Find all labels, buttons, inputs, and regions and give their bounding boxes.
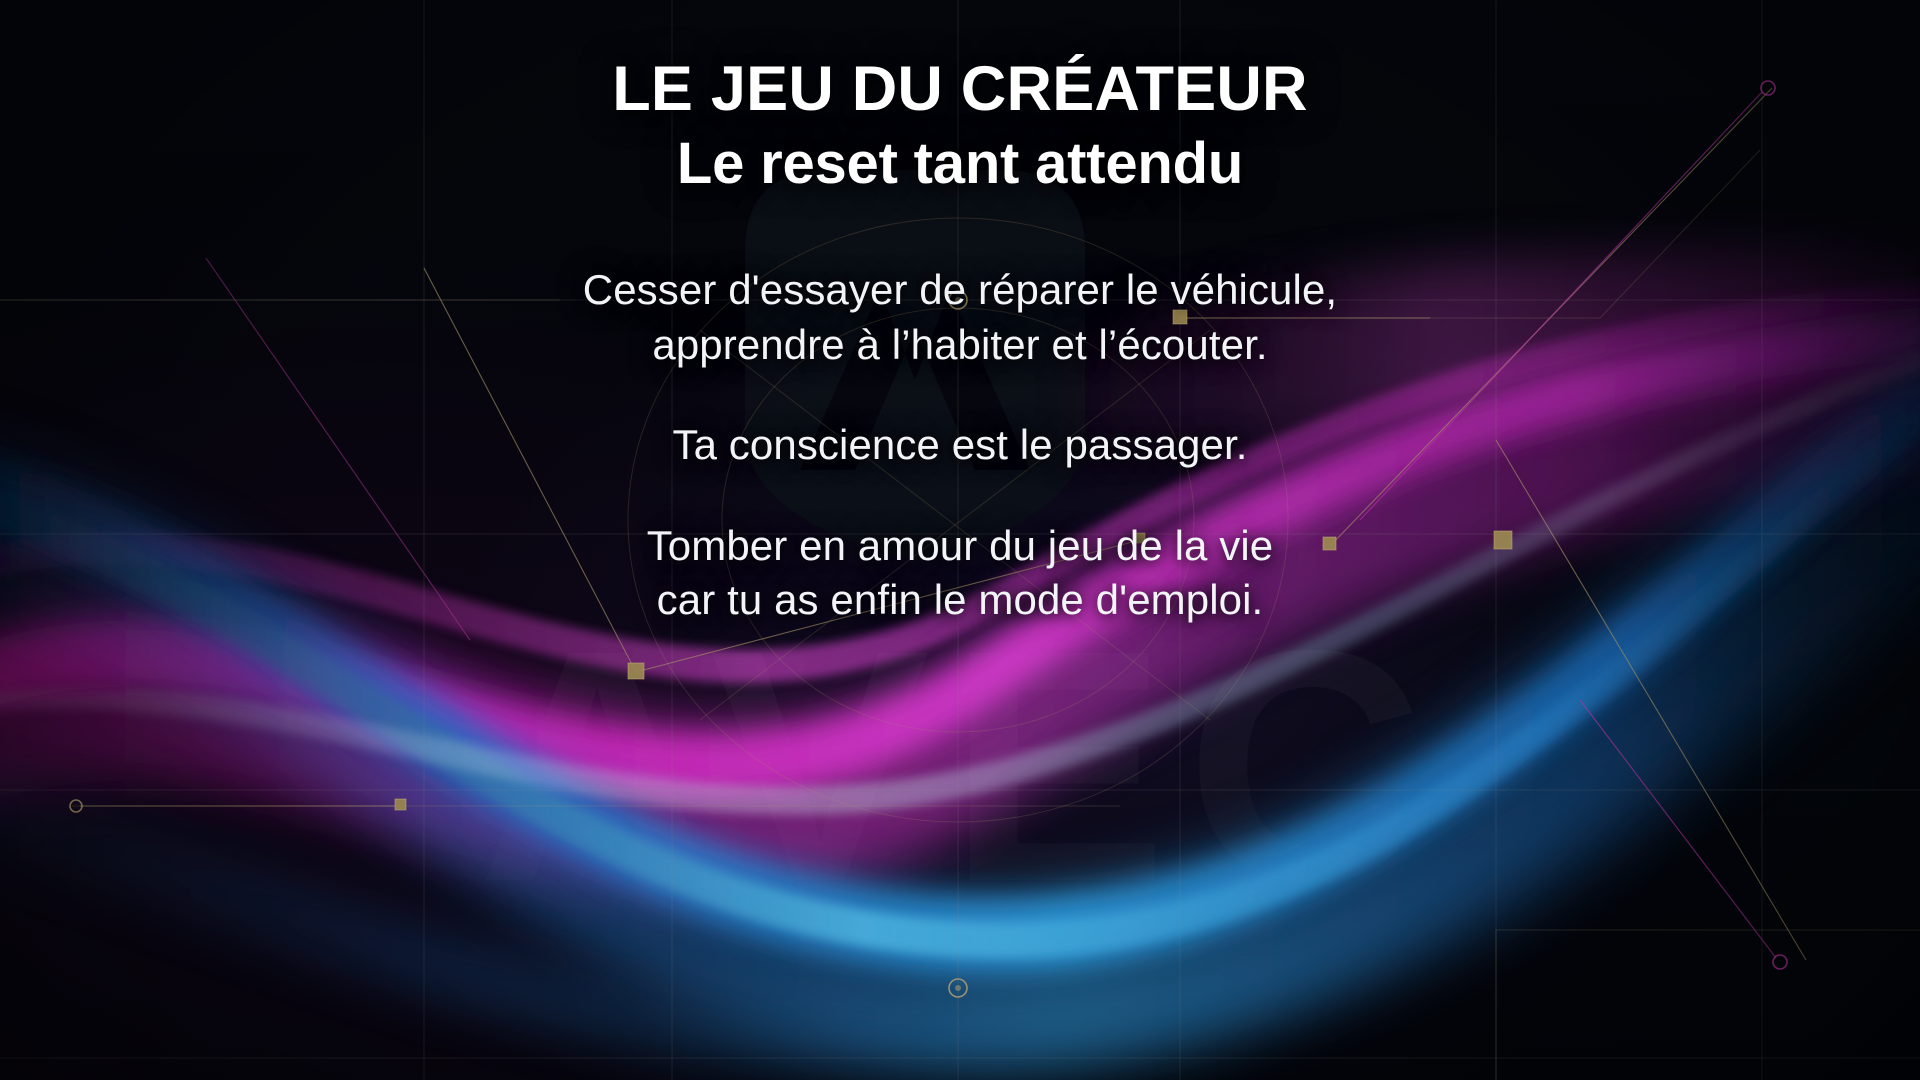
body-paragraph-2: Ta conscience est le passager. — [583, 418, 1337, 473]
body-line: apprendre à l’habiter et l’écouter. — [583, 318, 1337, 373]
body-line: Cesser d'essayer de réparer le véhicule, — [583, 263, 1337, 318]
body-text-block: Cesser d'essayer de réparer le véhicule,… — [583, 263, 1337, 628]
body-line: Ta conscience est le passager. — [583, 418, 1337, 473]
page-title-line-2: Le reset tant attendu — [677, 135, 1243, 193]
body-line: Tomber en amour du jeu de la vie — [583, 519, 1337, 574]
slide-content: LE JEU DU CRÉATEUR Le reset tant attendu… — [0, 0, 1920, 1080]
slide-canvas: AVEC — [0, 0, 1920, 1080]
body-paragraph-3: Tomber en amour du jeu de la vie car tu … — [583, 519, 1337, 628]
body-paragraph-1: Cesser d'essayer de réparer le véhicule,… — [583, 263, 1337, 372]
page-title-line-1: LE JEU DU CRÉATEUR — [612, 58, 1308, 121]
body-line: car tu as enfin le mode d'emploi. — [583, 573, 1337, 628]
